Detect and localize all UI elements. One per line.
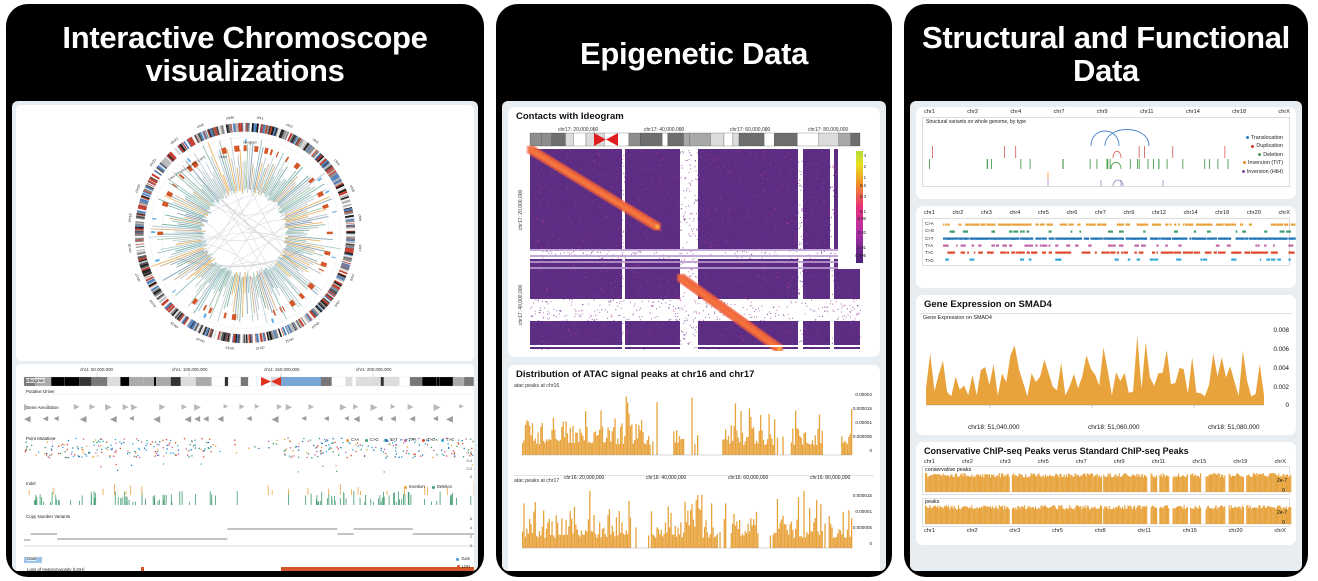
circos-plot[interactable]: chr1chr2chr3chr4chr5chr6chr7chr8chr9chr1… — [16, 105, 474, 361]
panel-epigenetic-data: Epigenetic Data Contacts with Ideogram c… — [496, 4, 892, 577]
atac-chr17-label: atac peaks at chr17 — [514, 478, 559, 484]
cbar-tick-0: 4 — [864, 153, 866, 158]
contacts-heading: Contacts with Ideogram — [508, 107, 880, 125]
chr-label: chr1 — [924, 459, 935, 465]
circos-chr-label: chr20 — [134, 184, 141, 194]
conservative-peaks-track[interactable]: conservative peaks 2e-7 0 — [922, 466, 1290, 495]
y-tick-pm-1: 0.4 — [466, 458, 472, 463]
chr-label: chr14 — [1186, 109, 1200, 115]
chr-label: chr4 — [1010, 109, 1021, 115]
atac-heading: Distribution of ATAC signal peaks at chr… — [508, 365, 880, 383]
signature-plot[interactable] — [923, 219, 1296, 265]
chr-label: chr9 — [1097, 109, 1108, 115]
mutation-signature-card[interactable]: chr1 chr2 chr3 chr4 chr5 chr6 chr7 chr9 … — [916, 206, 1296, 288]
atac-chr16-track[interactable]: atac peaks at chr16 0.00002 0.000015 0.0… — [514, 383, 874, 476]
chr-label: chrX — [1274, 459, 1286, 465]
chr-label: chr7 — [1076, 459, 1087, 465]
chr-label: chr8 — [1095, 528, 1106, 534]
chr-label: chrX — [1278, 210, 1290, 216]
chr-label: chr2 — [967, 528, 978, 534]
circos-chr-label: chrM — [226, 116, 234, 121]
y-tick-cnv-1: 4 — [470, 525, 472, 530]
ytick: 0.00002 — [853, 391, 872, 398]
cbar-tick-7: 0.03 — [858, 230, 866, 235]
chr-label: chr3 — [1000, 459, 1011, 465]
ytick: 0.000015 — [853, 492, 872, 499]
legend-item-insertion: Insertion — [409, 484, 425, 489]
peaks-label: peaks — [925, 499, 939, 505]
chr-label: chr15 — [1183, 528, 1197, 534]
chr-label: chr1 — [924, 210, 935, 216]
chr-label: chr6 — [1067, 210, 1078, 216]
panel-title-2: Epigenetic Data — [502, 10, 886, 101]
ytick: 0.006 — [1274, 347, 1289, 354]
panel-3-body: chr1 chr2 chr4 chr7 chr9 chr11 chr14 chr… — [910, 101, 1302, 571]
cbar-tick-2: 1 — [864, 175, 866, 180]
ytick: 0 — [1282, 520, 1285, 526]
circos-chr-label: chr22 — [170, 137, 179, 146]
circos-chr-label: chr14 — [196, 337, 206, 344]
legend-inv-hh: Inversion (HtH) — [1247, 169, 1283, 175]
panel-structural-functional-data: Structural and Functional Data chr1 chr2… — [904, 4, 1308, 577]
chr-label: chr20 — [1229, 528, 1243, 534]
track-label-loh: Loss of Heterozygosity (LOH) — [27, 567, 85, 571]
chr-label: chr14 — [1184, 210, 1198, 216]
sv-whole-genome-card[interactable]: chr1 chr2 chr4 chr7 chr9 chr11 chr14 chr… — [916, 107, 1296, 199]
xtick: chr18: 51,040,000 — [968, 424, 1020, 431]
atac-chr17-track[interactable]: atac peaks at chr17 0.000015 0.00001 0.0… — [514, 478, 874, 571]
legend-translocation: Translocation — [1251, 135, 1283, 141]
circos-chr-label: chr1 — [257, 116, 264, 121]
circos-chr-label: chr8 — [349, 274, 355, 282]
sv-type-legend: Translocation Duplication Deletion Inver… — [1242, 134, 1283, 176]
legend-structural-variants: Gain LOH Translocation Duplication Delet… — [437, 555, 470, 571]
chr-label: chr4 — [1010, 210, 1021, 216]
chr-label: chr2 — [953, 210, 964, 216]
chr-label: chrX — [1274, 528, 1286, 534]
circos-chr-label: chr18 — [127, 244, 132, 253]
circos-chr-label: chr15 — [170, 321, 179, 330]
cbar-tick-8: 0.01 — [858, 245, 866, 250]
track-label-point-mutation: Point Mutation — [26, 436, 54, 441]
sig-label-tc: T>C — [925, 249, 934, 256]
hic-colorbar-ticks: 4 2 1 0.6 0.3 0.1 0.06 0.03 0.01 0.006 — [831, 153, 877, 263]
legend-item-ca: C>A — [351, 437, 359, 442]
ytick: 0.002 — [1274, 385, 1289, 392]
peaks-track[interactable]: peaks 2e-7 0 — [922, 498, 1290, 527]
sig-label-ca: C>A — [925, 220, 934, 227]
tracks-svg[interactable] — [16, 364, 474, 571]
cbar-tick-6: 0.06 — [858, 216, 866, 221]
circos-chr-label: chr7 — [358, 245, 363, 252]
chr-label: chr7 — [1095, 210, 1106, 216]
sv-legend-gain: Gain — [461, 556, 470, 561]
chr-label: chr11 — [1140, 109, 1154, 115]
panel-1-body: chr1chr2chr3chr4chr5chr6chr7chr8chr9chr1… — [12, 101, 478, 571]
legend-inv-tt: Inversion (TtT) — [1248, 160, 1283, 166]
circos-chr-label: chr4 — [333, 159, 340, 167]
sig-label-cg: C>G — [925, 227, 934, 234]
chr-label: chr12 — [1152, 210, 1166, 216]
ytick: 2e-7 — [1277, 478, 1287, 484]
legend-item-ct: C>T — [390, 437, 398, 442]
atac-chr17-yticks: 0.000015 0.00001 0.000005 0 — [853, 492, 872, 547]
chr-label: chr1 — [924, 109, 935, 115]
ytick: 0 — [853, 447, 872, 454]
gene-expression-plot[interactable] — [920, 323, 1296, 415]
circos-label-ideogram: Ideogram — [243, 140, 257, 144]
chipseq-chr-top: chr1 chr2 chr3 chr5 chr7 chr9 chr11 chr1… — [916, 459, 1296, 466]
ytick: 0 — [853, 540, 872, 547]
cbar-tick-9: 0.006 — [855, 253, 866, 258]
ytick: 0.00001 — [853, 419, 872, 426]
chr-label: chr15 — [1192, 459, 1206, 465]
circos-chr-label: chr6 — [358, 214, 363, 221]
legend-item-tg: T>G — [446, 437, 454, 442]
legend-deletion: Deletion — [1263, 152, 1283, 158]
chr-label: chr5 — [1038, 210, 1049, 216]
y-tick-pm-0: 0.6 — [466, 450, 472, 455]
legend-item-deletion: Deletion — [437, 484, 452, 489]
track-label-indel: Indel — [26, 481, 36, 486]
sig-chr-labels: chr1 chr2 chr3 chr4 chr5 chr6 chr7 chr9 … — [916, 206, 1296, 218]
ytick: 0.008 — [1274, 328, 1289, 335]
ytick: 0 — [1274, 403, 1289, 410]
chr-label: chr19 — [1233, 459, 1247, 465]
atac-card[interactable]: Distribution of ATAC signal peaks at chr… — [508, 365, 880, 571]
sig-label-tg: T>G — [925, 257, 934, 264]
circos-chr-label: chr10 — [311, 321, 320, 330]
xtick: chr18: 51,060,000 — [1088, 424, 1140, 431]
chipseq-card[interactable]: Conservative ChIP-seq Peaks verus Standa… — [916, 442, 1296, 545]
panel-interactive-chromoscope: Interactive Chromoscope visualizations — [6, 4, 484, 577]
panel-title-1: Interactive Chromoscope visualizations — [12, 10, 478, 101]
cbar-tick-3: 0.6 — [860, 183, 866, 188]
ytick: 0.00001 — [853, 508, 872, 515]
chr-label: chr5 — [1052, 528, 1063, 534]
circos-chr-label: chr13 — [225, 346, 234, 351]
chr-label: chrX — [1278, 109, 1290, 115]
sig-label-ta: T>A — [925, 242, 934, 249]
ytick: 0.000005 — [853, 524, 872, 531]
legend-item-tc: T>C — [427, 437, 435, 442]
chr-label: chr11 — [1152, 459, 1166, 465]
chr-label: chr11 — [1137, 528, 1151, 534]
conservative-peaks-label: conservative peaks — [925, 467, 971, 473]
chipseq-heading: Conservative ChIP-seq Peaks verus Standa… — [916, 442, 1296, 459]
track-label-ideogram: Ideogram — [26, 378, 45, 383]
chr-label: chr18 — [1215, 210, 1229, 216]
chr-label: chr9 — [1114, 459, 1125, 465]
hic-matrix[interactable] — [508, 125, 880, 353]
panel-board: Interactive Chromoscope visualizations — [0, 0, 1318, 581]
circos-chr-label: chr2 — [285, 123, 293, 129]
ytick: 2e-7 — [1277, 510, 1287, 516]
chr-label: chr5 — [1038, 459, 1049, 465]
chr-label: chr18 — [1232, 109, 1246, 115]
circos-chr-label: chr3 — [312, 137, 320, 144]
sig-label-ct: C>T — [925, 235, 934, 242]
chr-label: chr3 — [981, 210, 992, 216]
xtick: chr18: 51,080,000 — [1208, 424, 1260, 431]
circos-label-gain: Gain — [220, 155, 227, 159]
y-tick-cnv-3: 0 — [470, 543, 472, 548]
sv-legend-loh: LOH — [462, 564, 470, 569]
circos-chr-label: chr17 — [134, 273, 141, 283]
track-label-cnv: Copy Number Variants — [26, 514, 70, 519]
chr-label: chr3 — [1009, 528, 1020, 534]
y-tick-cnv-2: 2 — [470, 534, 472, 539]
track-label-putative-driver: Putative Driver — [26, 389, 55, 394]
linear-genome-tracks[interactable]: chr1: 50,000,000 chr1: 100,000,000 chr1:… — [16, 364, 474, 571]
circos-card[interactable]: chr1chr2chr3chr4chr5chr6chr7chr8chr9chr1… — [16, 105, 474, 361]
circos-chr-label: chr5 — [349, 185, 355, 193]
legend-item-ta: T>A — [409, 437, 416, 442]
circos-chr-label: chr9 — [333, 300, 340, 308]
chipseq-chr-bottom: chr1 chr2 chr3 chr5 chr8 chr11 chr15 chr… — [916, 527, 1296, 534]
atac-chr16-label: atac peaks at chr16 — [514, 383, 559, 389]
legend-item-cg: C>G — [370, 437, 379, 442]
gene-expression-card[interactable]: Gene Expression on SMAD4 Gene Expression… — [916, 295, 1296, 435]
circos-chr-label: chr16 — [149, 299, 158, 308]
ytick: 0.000015 — [853, 405, 872, 412]
legend-duplication: Duplication — [1256, 143, 1283, 149]
sv-plot[interactable] — [923, 118, 1296, 186]
sv-chr-labels: chr1 chr2 chr4 chr7 chr9 chr11 chr14 chr… — [916, 107, 1296, 117]
circos-chr-label: chr11 — [285, 337, 294, 344]
chr-label: chr1 — [924, 528, 935, 534]
ytick: 0.004 — [1274, 366, 1289, 373]
circos-chr-label: chrX — [197, 122, 206, 129]
track-label-gain: Gain — [27, 556, 36, 561]
chr-label: chr2 — [962, 459, 973, 465]
gene-expression-sub-label: Gene Expression on SMAD4 — [923, 315, 992, 321]
chr-label: chr7 — [1054, 109, 1065, 115]
chr-label: chr2 — [967, 109, 978, 115]
ytick: 0 — [1282, 488, 1285, 494]
legend-point-mutation: C>A C>G C>T T>A T>C T>G — [346, 437, 454, 442]
track-label-gene-annotation: Gene Annotation — [26, 405, 59, 410]
y-tick-cnv-0: 6 — [470, 516, 472, 521]
y-tick-pm-3: 0 — [470, 474, 472, 479]
gene-expression-heading: Gene Expression on SMAD4 — [916, 295, 1296, 313]
gene-expression-yticks: 0.008 0.006 0.004 0.002 0 — [1274, 328, 1289, 410]
cbar-tick-1: 2 — [864, 164, 866, 169]
cbar-tick-5: 0.1 — [860, 209, 866, 214]
ytick: 0.000005 — [853, 433, 872, 440]
signature-row-labels: C>A C>G C>T T>A T>C T>G — [925, 220, 934, 264]
cbar-tick-4: 0.3 — [860, 194, 866, 199]
panel-title-3: Structural and Functional Data — [910, 10, 1302, 101]
y-tick-pm-2: 0.2 — [466, 466, 472, 471]
atac-chr16-yticks: 0.00002 0.000015 0.00001 0.000005 0 — [853, 391, 872, 455]
legend-indel: Insertion Deletion — [404, 484, 452, 489]
circos-chr-label: chr12 — [255, 346, 264, 351]
chr-label: chr20 — [1247, 210, 1261, 216]
circos-chr-label: chr19 — [127, 213, 132, 222]
panel-2-body: Contacts with Ideogram chr17: 20,000,000… — [502, 101, 886, 571]
contacts-ideogram-card[interactable]: Contacts with Ideogram chr17: 20,000,000… — [508, 107, 880, 357]
chr-label: chr9 — [1124, 210, 1135, 216]
circos-chr-label: chr21 — [149, 158, 158, 167]
